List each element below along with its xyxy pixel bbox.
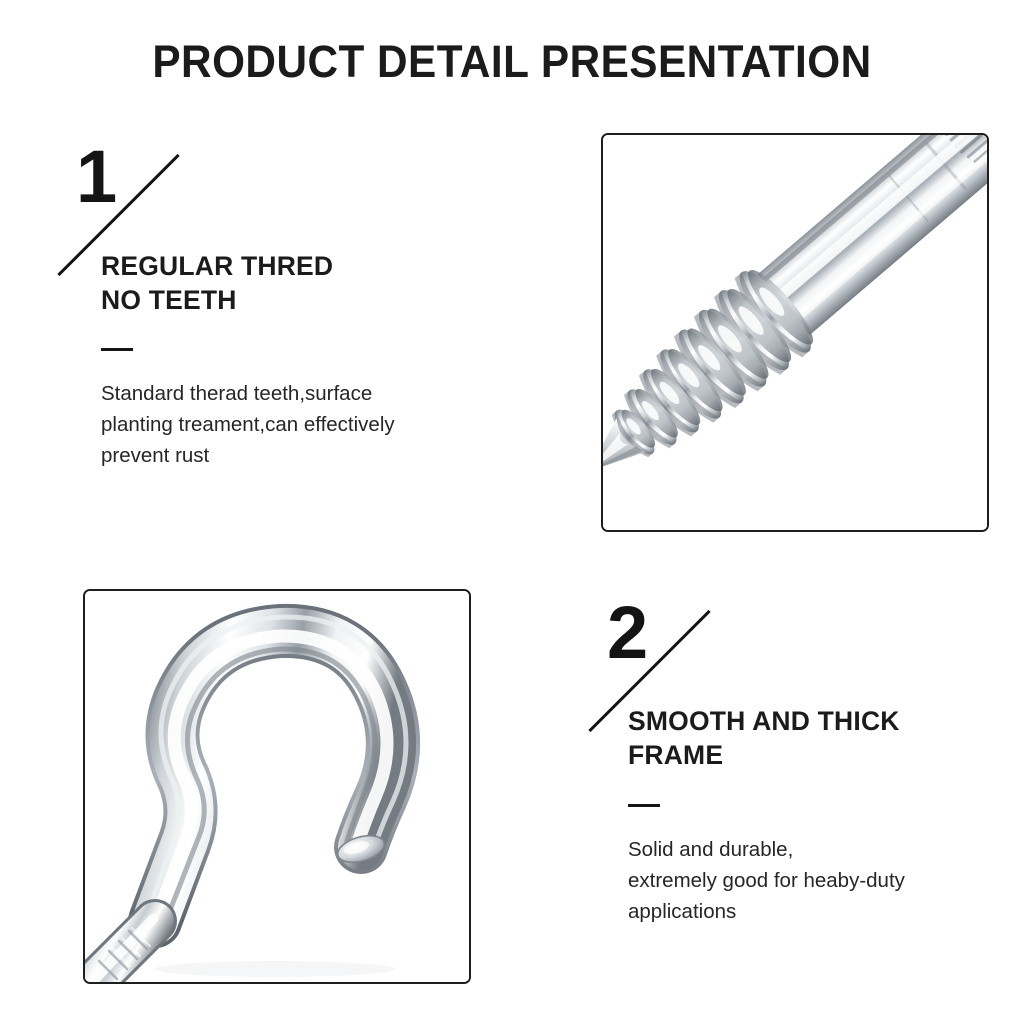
feature-rule-1 bbox=[101, 348, 133, 351]
feature-heading-1-line2: NO TEETH bbox=[101, 284, 237, 317]
feature-heading-1-line1: REGULAR THRED bbox=[101, 250, 333, 283]
feature-number-1: 1 bbox=[76, 140, 116, 214]
product-detail-page: PRODUCT DETAIL PRESENTATION 1 REGULAR TH… bbox=[0, 0, 1024, 1024]
product-photo-frame-2 bbox=[83, 589, 471, 984]
feature-body-2: Solid and durable, extremely good for he… bbox=[628, 834, 1018, 927]
feature-rule-2 bbox=[628, 804, 660, 807]
feature-heading-2-line2: FRAME bbox=[628, 739, 723, 772]
cup-hook-closeup-image bbox=[85, 591, 469, 982]
feature-heading-2-line1: SMOOTH AND THICK bbox=[628, 705, 900, 738]
feature-body-1: Standard therad teeth,surface planting t… bbox=[101, 378, 521, 471]
product-photo-frame-1 bbox=[601, 133, 989, 532]
feature-slash-2 bbox=[588, 610, 710, 732]
feature-block-1: 1 REGULAR THRED NO TEETH Standard therad… bbox=[0, 0, 520, 500]
screw-thread-closeup-image bbox=[603, 135, 987, 530]
feature-number-2: 2 bbox=[607, 596, 647, 670]
